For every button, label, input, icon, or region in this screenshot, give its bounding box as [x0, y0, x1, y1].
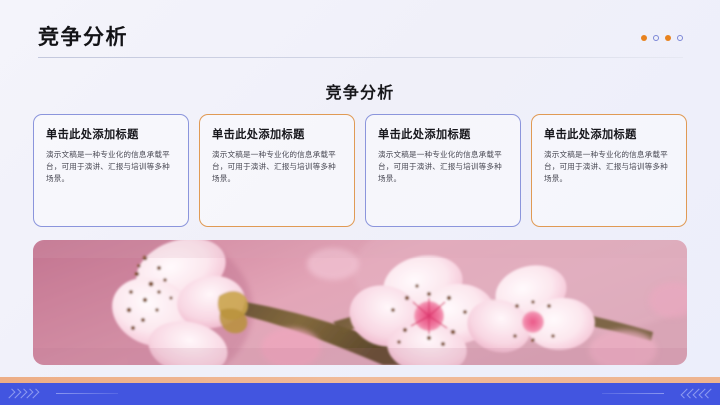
card-body: 演示文稿是一种专业化的信息承载平台，可用于演讲、汇报与培训等多种场景。	[378, 149, 508, 185]
card-title: 单击此处添加标题	[378, 129, 508, 142]
pager-dots	[641, 35, 683, 41]
pager-dot-3[interactable]	[665, 35, 671, 41]
cherry-blossom-photo	[33, 240, 687, 365]
card-body: 演示文稿是一种专业化的信息承载平台，可用于演讲、汇报与培训等多种场景。	[212, 149, 342, 185]
card-3[interactable]: 单击此处添加标题 演示文稿是一种专业化的信息承载平台，可用于演讲、汇报与培训等多…	[365, 114, 521, 227]
card-1[interactable]: 单击此处添加标题 演示文稿是一种专业化的信息承载平台，可用于演讲、汇报与培训等多…	[33, 114, 189, 227]
page-title: 竞争分析	[38, 27, 128, 48]
slide-header: 竞争分析	[0, 0, 720, 58]
card-title: 单击此处添加标题	[212, 129, 342, 142]
card-2[interactable]: 单击此处添加标题 演示文稿是一种专业化的信息承载平台，可用于演讲、汇报与培训等多…	[199, 114, 355, 227]
footer-bar	[0, 383, 720, 405]
card-body: 演示文稿是一种专业化的信息承载平台，可用于演讲、汇报与培训等多种场景。	[544, 149, 674, 185]
section-title: 竞争分析	[0, 79, 720, 103]
pager-dot-4[interactable]	[677, 35, 683, 41]
card-body: 演示文稿是一种专业化的信息承载平台，可用于演讲、汇报与培训等多种场景。	[46, 149, 176, 185]
footer-rule-left	[56, 393, 118, 394]
footer-rule-right	[602, 393, 664, 394]
card-title: 单击此处添加标题	[544, 129, 674, 142]
footer-chevrons-left	[8, 389, 37, 398]
header-divider	[38, 57, 683, 58]
card-4[interactable]: 单击此处添加标题 演示文稿是一种专业化的信息承载平台，可用于演讲、汇报与培训等多…	[531, 114, 687, 227]
pager-dot-1[interactable]	[641, 35, 647, 41]
card-title: 单击此处添加标题	[46, 129, 176, 142]
footer-chevrons-right	[683, 389, 712, 398]
pager-dot-2[interactable]	[653, 35, 659, 41]
card-row: 单击此处添加标题 演示文稿是一种专业化的信息承载平台，可用于演讲、汇报与培训等多…	[33, 114, 687, 227]
